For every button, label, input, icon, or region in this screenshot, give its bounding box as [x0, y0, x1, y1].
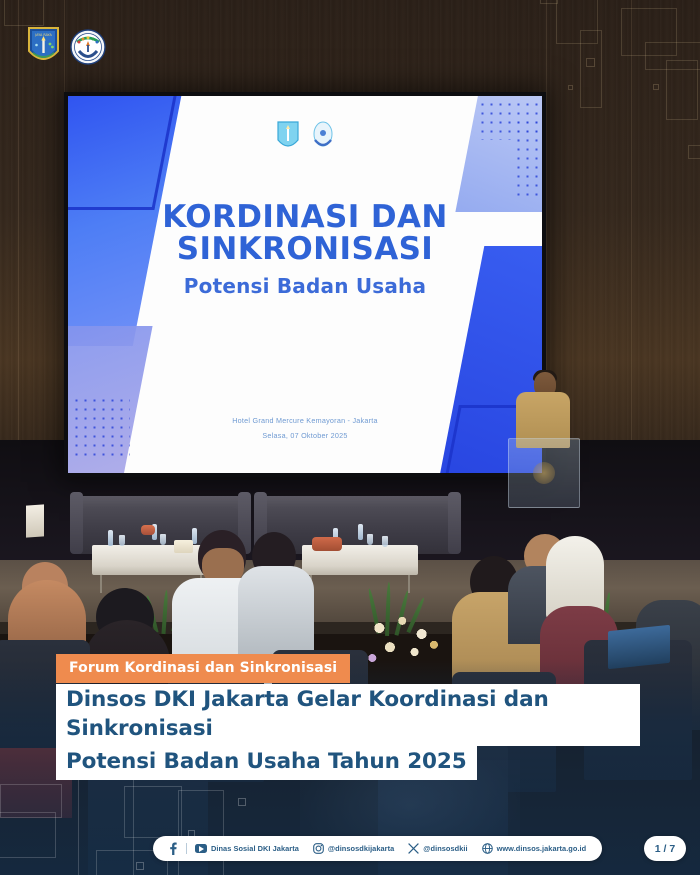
- website-entry[interactable]: www.dinsos.jakarta.go.id: [482, 843, 587, 854]
- youtube-entry[interactable]: Dinas Sosial DKI Jakarta: [195, 844, 299, 853]
- table-leg: [408, 575, 410, 593]
- footer-dot-motif: [136, 862, 144, 870]
- instagram-entry[interactable]: @dinsosdkijakarta: [313, 843, 394, 854]
- wall-dot-motif: [653, 84, 659, 90]
- slide-title-line1: KORDINASI DAN: [68, 202, 542, 234]
- lectern: [508, 438, 580, 508]
- page-indicator[interactable]: 1 / 7: [644, 836, 686, 861]
- x-twitter-icon[interactable]: [408, 843, 419, 854]
- wall-rect-motif: [540, 0, 558, 4]
- slide-footer-block: Hotel Grand Mercure Kemayoran - Jakarta …: [68, 413, 542, 443]
- x-twitter-entry[interactable]: @dinsosdkii: [408, 843, 467, 854]
- reserved-sign: [26, 504, 44, 537]
- drinking-glass: [367, 534, 373, 545]
- social-media-bar: Dinas Sosial DKI Jakarta @dinsosdkijakar…: [153, 836, 602, 861]
- facebook-entry[interactable]: [167, 842, 178, 855]
- tissue-box: [174, 540, 193, 553]
- footer-line-motif: [124, 786, 182, 838]
- drinking-glass: [382, 536, 388, 547]
- presentation-slide: KORDINASI DAN SINKRONISASI Potensi Badan…: [68, 96, 542, 473]
- youtube-icon[interactable]: [195, 844, 207, 853]
- dinas-sosial-emblem-slide: [310, 120, 336, 152]
- news-poster: KORDINASI DAN SINKRONISASI Potensi Badan…: [0, 0, 700, 875]
- footer-line-motif: [0, 812, 56, 858]
- footer-divider: [186, 843, 187, 854]
- footer-line-motif: [178, 790, 224, 875]
- table-leg: [100, 575, 102, 593]
- slide-title-line2: SINKRONISASI: [68, 234, 542, 266]
- headline-line-2: Potensi Badan Usaha Tahun 2025: [56, 746, 477, 780]
- wall-rect-motif: [666, 60, 698, 120]
- slide-title-block: KORDINASI DAN SINKRONISASI Potensi Badan…: [68, 202, 542, 298]
- slide-date: Selasa, 07 Oktober 2025: [68, 428, 542, 443]
- category-badge: Forum Kordinasi dan Sinkronisasi: [56, 654, 350, 683]
- slide-venue: Hotel Grand Mercure Kemayoran - Jakarta: [68, 413, 542, 428]
- headline-line-1: Dinsos DKI Jakarta Gelar Koordinasi dan …: [56, 684, 640, 746]
- slide-subtitle: Potensi Badan Usaha: [68, 274, 542, 298]
- wall-seam: [18, 0, 19, 500]
- instagram-icon[interactable]: [313, 843, 324, 854]
- sofa-arm: [70, 492, 83, 554]
- lectern-emblem: [533, 462, 555, 484]
- wall-dot-motif: [586, 58, 595, 67]
- headline-block: Dinsos DKI Jakarta Gelar Koordinasi dan …: [56, 684, 640, 780]
- jakarta-provincial-emblem: JAYA RAYA: [27, 26, 60, 67]
- facebook-icon[interactable]: [167, 842, 178, 855]
- drinking-glass: [160, 534, 166, 545]
- organization-logo-group: JAYA RAYA: [27, 26, 106, 67]
- wall-rect-motif: [688, 145, 700, 159]
- slide-logo-row: [68, 120, 542, 152]
- wall-dot-motif: [568, 85, 573, 90]
- dinas-sosial-emblem: [70, 29, 106, 65]
- globe-icon[interactable]: [482, 843, 493, 854]
- water-bottle: [358, 524, 363, 540]
- wall-rect-motif: [4, 0, 44, 26]
- footer-dot-motif: [238, 798, 246, 806]
- table-flowers: [141, 525, 155, 535]
- youtube-label: Dinas Sosial DKI Jakarta: [211, 844, 299, 853]
- attendee-shirt: [238, 566, 314, 656]
- jakarta-provincial-emblem-slide: [275, 120, 301, 152]
- table-flowers: [312, 537, 342, 551]
- drinking-glass: [119, 535, 125, 546]
- wall-seam: [631, 0, 632, 500]
- instagram-label: @dinsosdkijakarta: [328, 844, 394, 853]
- sofa-arm: [448, 492, 461, 554]
- wall-rect-motif: [580, 30, 602, 108]
- x-twitter-label: @dinsosdkii: [423, 844, 467, 853]
- website-label: www.dinsos.jakarta.go.id: [497, 844, 587, 853]
- water-bottle: [108, 530, 113, 546]
